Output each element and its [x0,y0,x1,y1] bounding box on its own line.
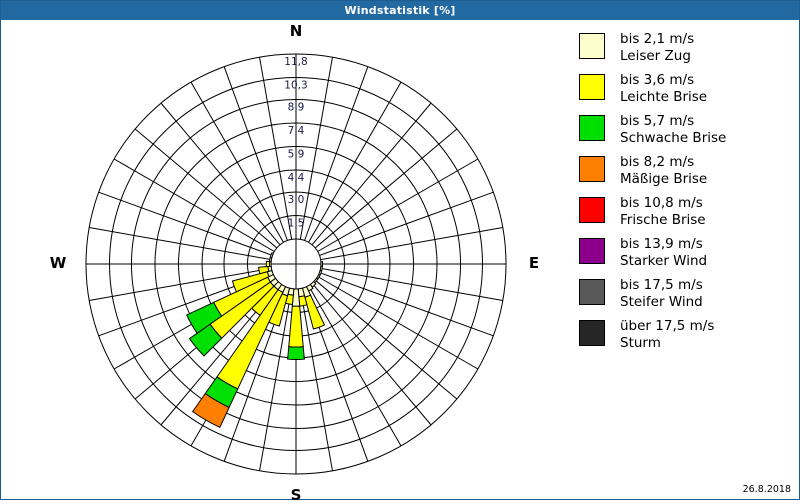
legend-swatch-icon [579,320,605,346]
grid-spoke [89,228,271,260]
legend-item-speed: bis 5,7 m/s [620,113,726,130]
compass-label-west: W [38,254,78,272]
grid-spoke [224,67,287,241]
grid-spoke [315,129,457,248]
legend-item-description: Leiser Zug [620,48,694,65]
legend-swatch-icon [579,115,605,141]
compass-label-south: S [276,486,316,504]
legend-item: über 17,5 m/sSturm [579,318,794,352]
wind-rose-segment [266,261,269,266]
legend: bis 2,1 m/sLeiser Zugbis 3,6 m/sLeichte … [579,31,794,359]
grid-spoke [321,228,503,260]
wind-rose-segment [321,262,323,267]
legend-item-text: bis 17,5 m/sSteifer Wind [620,277,703,311]
legend-item-speed: bis 2,1 m/s [620,31,694,48]
legend-item: bis 8,2 m/sMäßige Brise [579,154,794,188]
legend-item: bis 10,8 m/sFrische Brise [579,195,794,229]
grid-spoke [309,82,402,242]
radial-tick-label: 11,8 [284,56,307,68]
date-stamp: 26.8.2018 [743,484,791,495]
grid-spoke [114,159,274,252]
radial-tick-label: 4,4 [288,172,305,184]
legend-swatch-icon [579,74,605,100]
legend-item-speed: bis 17,5 m/s [620,277,703,294]
wind-rose-svg: 1,53,04,45,97,48,910,311,8 [1,21,571,499]
grid-spoke [319,192,493,255]
legend-item-text: bis 3,6 m/sLeichte Brise [620,72,707,106]
grid-spoke [99,192,273,255]
window-title: Windstatistik [%] [344,4,455,17]
legend-swatch-icon [579,238,605,264]
compass-label-north: N [276,22,316,40]
legend-item-speed: bis 13,9 m/s [620,236,707,253]
wind-rose-petals [187,253,325,428]
grid-spoke [315,280,457,399]
legend-item-description: Steifer Wind [620,294,703,311]
window-content: 1,53,04,45,97,48,910,311,8 N S E W bis 2… [1,21,799,499]
wind-rose-segment [270,253,273,258]
legend-item-description: Mäßige Brise [620,171,707,188]
grid-spoke [309,286,402,446]
legend-item-text: bis 5,7 m/sSchwache Brise [620,113,726,147]
legend-swatch-icon [579,279,605,305]
radial-tick-label: 5,9 [288,149,305,161]
legend-item-description: Leichte Brise [620,89,707,106]
legend-item: bis 2,1 m/sLeiser Zug [579,31,794,65]
legend-item-text: bis 13,9 m/sStarker Wind [620,236,707,270]
legend-item-text: über 17,5 m/sSturm [620,318,714,352]
wind-rose-segment [305,295,325,329]
legend-item-description: Schwache Brise [620,130,726,147]
radial-tick-label: 8,9 [288,101,305,113]
legend-item-speed: bis 3,6 m/s [620,72,707,89]
legend-swatch-icon [579,197,605,223]
radial-tick-label: 1,5 [288,217,305,229]
legend-item-speed: bis 10,8 m/s [620,195,706,212]
legend-item: bis 3,6 m/sLeichte Brise [579,72,794,106]
wind-rose-segment [288,347,305,360]
radial-tick-label: 3,0 [288,194,305,206]
legend-item-text: bis 2,1 m/sLeiser Zug [620,31,694,65]
grid-spoke [318,159,478,252]
legend-item-speed: über 17,5 m/s [620,318,714,335]
wind-rose-chart: 1,53,04,45,97,48,910,311,8 N S E W [1,21,571,499]
legend-item-description: Frische Brise [620,212,706,229]
legend-item-speed: bis 8,2 m/s [620,154,707,171]
windstatistik-window: Windstatistik [%] 1,53,04,45,97,48,910,3… [0,0,800,500]
grid-spoke [319,273,493,336]
grid-spoke [161,103,280,245]
compass-label-east: E [514,254,554,272]
grid-spoke [318,277,478,370]
legend-item-description: Sturm [620,335,714,352]
legend-swatch-icon [579,33,605,59]
grid-spoke [321,268,503,300]
grid-spoke [312,283,431,425]
legend-item-text: bis 8,2 m/sMäßige Brise [620,154,707,188]
radial-tick-label: 7,4 [288,125,305,137]
legend-item: bis 13,9 m/sStarker Wind [579,236,794,270]
grid-spoke [305,67,368,241]
radial-tick-label: 10,3 [284,80,307,92]
legend-item-text: bis 10,8 m/sFrische Brise [620,195,706,229]
grid-spoke [191,82,284,242]
polar-grid [86,54,506,474]
legend-swatch-icon [579,156,605,182]
legend-item-description: Starker Wind [620,253,707,270]
grid-spoke [135,129,277,248]
legend-item: bis 17,5 m/sSteifer Wind [579,277,794,311]
legend-item: bis 5,7 m/sSchwache Brise [579,113,794,147]
grid-spoke [312,103,431,245]
window-title-bar: Windstatistik [%] [1,1,799,20]
